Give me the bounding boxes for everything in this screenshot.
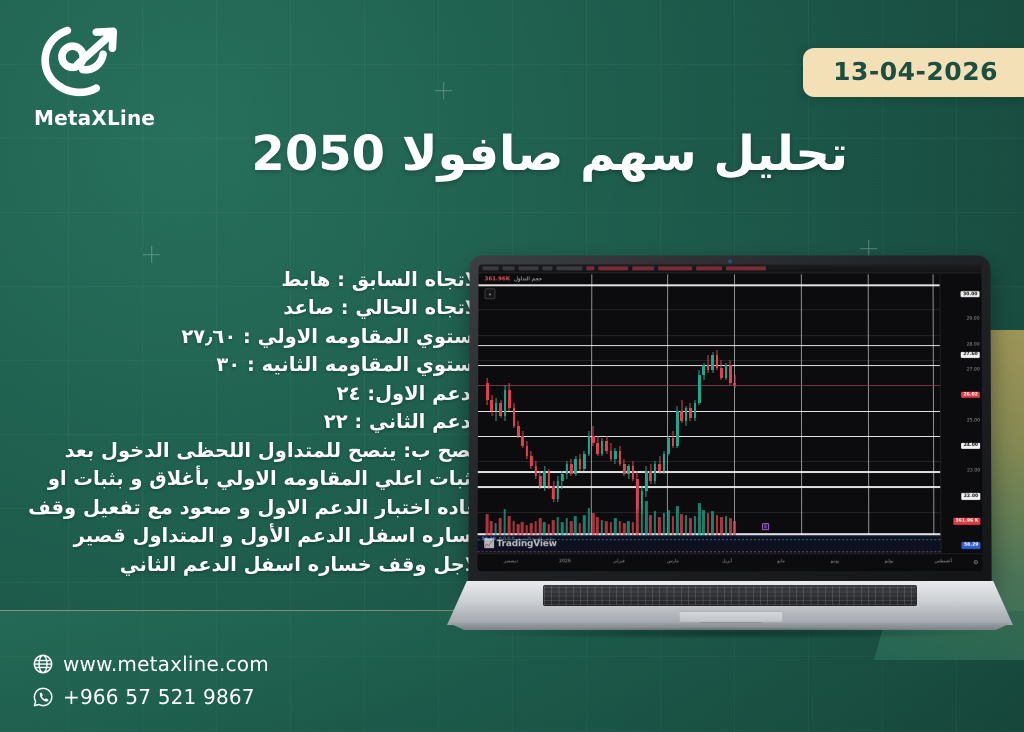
- volume-bar: [583, 515, 586, 537]
- candle-body: [671, 438, 674, 446]
- candle-body: [596, 443, 599, 453]
- time-axis-tick: يوليو: [885, 559, 894, 564]
- candle-body: [565, 464, 568, 474]
- candle-body: [543, 471, 546, 486]
- decorative-plus-icon: [435, 82, 452, 99]
- chart-event-marker[interactable]: E: [762, 523, 769, 530]
- candle-body: [592, 436, 595, 444]
- toolbar-chip[interactable]: [542, 266, 552, 270]
- time-axis[interactable]: ⚙ ديسمبر2026فبرايرمارسأبريلمايويونيويولي…: [477, 553, 982, 571]
- analysis-recommendation: ينصح ب: ينصح للمتداول اللحظى الدخول بعد …: [16, 437, 486, 579]
- candle-body: [733, 383, 736, 385]
- candle-body: [720, 368, 723, 378]
- tradingview-logo-icon: 📈: [484, 539, 495, 549]
- price-axis-tick: 25.00: [967, 418, 980, 423]
- candle-body: [504, 390, 507, 415]
- candle-body: [512, 408, 515, 426]
- volume-bar: [587, 508, 590, 538]
- volume-axis-badge: 361.96 K: [953, 518, 980, 525]
- candle-body: [614, 451, 617, 459]
- time-axis-tick: أغسطس: [934, 559, 951, 564]
- laptop-screen: حجم التداول 361.96K ▴ E مؤش: [477, 264, 982, 571]
- analysis-line-support-2: الدعم الثاني : ٢٢: [16, 408, 486, 436]
- price-axis-tick: 27.60: [961, 352, 980, 358]
- price-axis-tick: 29.00: [966, 317, 979, 322]
- candle-body: [588, 436, 591, 454]
- laptop-deck: [447, 581, 1013, 625]
- volume-bar: [486, 514, 489, 537]
- candle-body: [667, 438, 670, 453]
- volume-bar: [503, 509, 506, 537]
- volume-bar: [640, 505, 643, 537]
- keyboard-keys: [544, 586, 916, 605]
- candle-body: [526, 446, 529, 456]
- candle-body: [725, 365, 728, 378]
- time-axis-tick: يونيو: [831, 559, 840, 564]
- footer-website-row[interactable]: www.metaxline.com: [32, 652, 269, 676]
- analysis-text-block: الاتجاه السابق : هابط الاتجاه الحالي : ص…: [16, 266, 486, 579]
- page-title: تحليل سهم صافولا 2050: [251, 126, 848, 182]
- decorative-plus-icon: [143, 246, 160, 263]
- laptop-trackpad: [679, 611, 783, 622]
- candle-body: [663, 454, 666, 472]
- candle-body: [548, 471, 551, 486]
- candle-wick: [734, 375, 735, 388]
- rsi-axis-badge: 58.29: [962, 542, 981, 549]
- volume-bar: [667, 510, 670, 537]
- price-axis-tick: 27.00: [967, 368, 980, 373]
- candle-body: [539, 476, 542, 486]
- volume-bar: [711, 511, 714, 537]
- price-axis-tick: 23.00: [967, 469, 980, 474]
- volume-bar: [716, 515, 719, 537]
- volume-bar: [671, 516, 674, 537]
- price-axis[interactable]: 30.0029.0028.0027.6027.0026.0225.0024.00…: [940, 274, 983, 553]
- tradingview-wordmark: TradingView: [497, 539, 557, 549]
- candle-body: [490, 400, 493, 410]
- price-axis-tick: 28.00: [967, 342, 980, 347]
- candle-body: [689, 408, 692, 418]
- candle-body: [499, 403, 502, 416]
- volume-bar: [707, 513, 710, 537]
- time-axis-tick: ديسمبر: [504, 559, 518, 564]
- tradingview-chart[interactable]: حجم التداول 361.96K ▴ E مؤش: [477, 264, 982, 571]
- candle-body: [605, 441, 608, 451]
- brand-name: MetaXLine: [34, 106, 170, 130]
- price-axis-tick: 26.02: [961, 391, 980, 398]
- candle-body: [530, 456, 533, 466]
- toolbar-chip[interactable]: [503, 266, 515, 270]
- volume-bar: [508, 516, 511, 537]
- time-axis-tick: فبراير: [613, 559, 624, 564]
- analysis-line-support-1: الدعم الاول: ٢٤: [16, 380, 486, 408]
- candle-body: [486, 383, 489, 401]
- candle-body: [658, 464, 661, 472]
- tradingview-watermark: 📈 TradingView: [484, 539, 557, 549]
- candle-body: [601, 441, 604, 454]
- laptop-keyboard: [543, 585, 917, 606]
- candle-body: [534, 466, 537, 476]
- volume-bar: [645, 501, 648, 537]
- whatsapp-icon: [32, 686, 54, 708]
- candle-body: [495, 403, 498, 411]
- candle-body: [711, 355, 714, 370]
- footer-website-text: www.metaxline.com: [63, 652, 269, 676]
- candle-body: [561, 474, 564, 482]
- toolbar-chip[interactable]: [726, 266, 766, 270]
- analysis-line-current-trend: الاتجاه الحالي : صاعد: [16, 294, 486, 322]
- toolbar-chip[interactable]: [483, 266, 499, 270]
- volume-bar: [663, 513, 666, 537]
- volume-bar: [685, 515, 688, 537]
- candle-body: [508, 390, 511, 408]
- candle-body: [694, 403, 697, 418]
- laptop-lid: حجم التداول 361.96K ▴ E مؤش: [468, 255, 991, 585]
- volume-bar: [698, 503, 701, 537]
- toolbar-chip[interactable]: [658, 266, 692, 270]
- candle-body: [583, 454, 586, 469]
- volume-bar: [636, 503, 639, 537]
- candle-body: [579, 459, 582, 469]
- analysis-line-previous-trend: الاتجاه السابق : هابط: [16, 266, 486, 294]
- volume-bar: [654, 511, 657, 537]
- candle-body: [676, 411, 679, 446]
- footer-contact: www.metaxline.com +966 57 521 9867: [32, 652, 269, 718]
- candle-body: [517, 426, 520, 436]
- candle-body: [627, 466, 630, 474]
- candle-body: [649, 471, 652, 481]
- metaxline-circular-arrow-logo: [38, 22, 124, 100]
- time-axis-tick: 2026: [559, 559, 571, 564]
- candle-body: [574, 459, 577, 474]
- toolbar-chip[interactable]: [518, 266, 538, 270]
- candle-body: [570, 464, 573, 474]
- toolbar-chip[interactable]: [598, 266, 628, 270]
- candle-body: [680, 411, 683, 421]
- laptop-shadow: [477, 627, 983, 639]
- candle-body: [623, 464, 626, 474]
- chart-plot-area[interactable]: E: [478, 274, 941, 537]
- globe-icon: [32, 653, 54, 675]
- settings-gear-icon[interactable]: ⚙: [973, 559, 978, 566]
- chart-toolbar[interactable]: [479, 264, 982, 273]
- footer-phone-row[interactable]: +966 57 521 9867: [32, 685, 269, 709]
- price-axis-tick: 30.00: [961, 291, 980, 297]
- toolbar-chip[interactable]: [632, 266, 654, 270]
- volume-series: [478, 497, 941, 537]
- candle-body: [645, 471, 648, 491]
- brand-logo: MetaXLine: [30, 22, 170, 130]
- laptop-mockup: حجم التداول 361.96K ▴ E مؤش: [447, 255, 1013, 633]
- footer-phone-text: +966 57 521 9867: [63, 685, 255, 709]
- candle-body: [610, 451, 613, 459]
- time-axis-tick: أبريل: [722, 559, 732, 564]
- toolbar-chip[interactable]: [696, 266, 722, 270]
- volume-bar: [649, 515, 652, 537]
- volume-bar: [592, 513, 595, 537]
- candle-body: [521, 436, 524, 446]
- volume-bar: [676, 507, 679, 538]
- candle-body: [698, 375, 701, 403]
- price-axis-tick: 24.00: [962, 443, 981, 449]
- candle-body: [707, 365, 710, 370]
- date-badge: 13-04-2026: [803, 48, 1024, 97]
- candle-body: [702, 365, 705, 375]
- candle-body: [716, 355, 719, 368]
- analysis-line-resistance-1: مستوي المقاومه الاولي : ٢٧٫٦٠: [16, 323, 486, 351]
- time-axis-tick: مايو: [777, 559, 785, 564]
- price-axis-tick: 22.00: [962, 493, 981, 499]
- volume-bar: [702, 510, 705, 537]
- toolbar-chip[interactable]: [586, 266, 594, 270]
- candle-body: [729, 365, 732, 383]
- toolbar-chip[interactable]: [556, 266, 582, 270]
- candle-body: [654, 464, 657, 482]
- volume-bar: [725, 516, 728, 537]
- analysis-line-resistance-2: مستوي المقاومه الثانيه : ٣٠: [16, 351, 486, 379]
- laptop-base: [447, 581, 1013, 633]
- candle-body: [632, 466, 635, 479]
- laptop-camera-icon: [728, 259, 732, 263]
- candle-body: [685, 408, 688, 421]
- volume-bar: [694, 516, 697, 537]
- candle-body: [618, 451, 621, 464]
- volume-bar: [574, 516, 577, 537]
- time-axis-tick: مارس: [667, 559, 679, 564]
- volume-bar: [680, 514, 683, 537]
